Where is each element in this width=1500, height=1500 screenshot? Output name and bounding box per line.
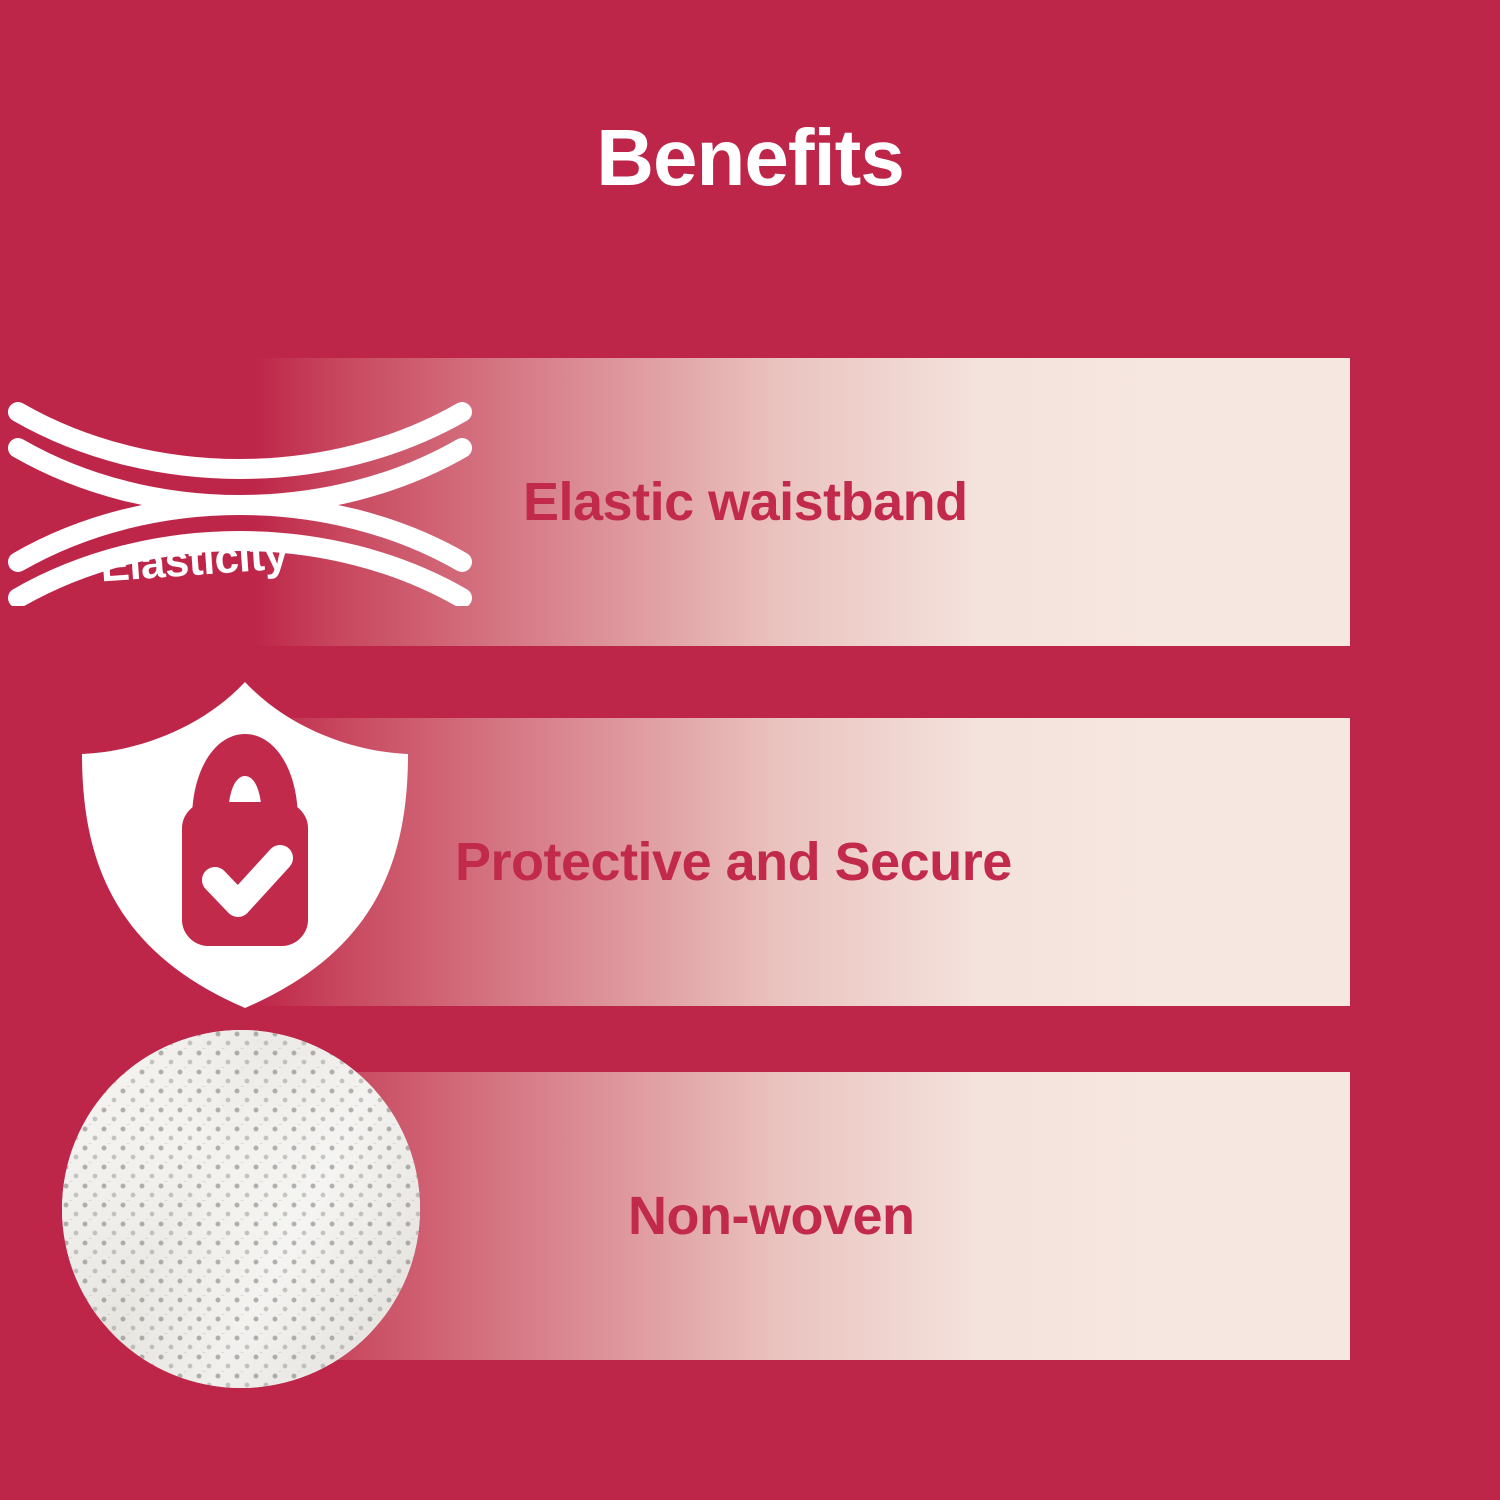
benefit-row-non-woven: Non-woven bbox=[0, 1072, 1500, 1360]
shield-lock-check-icon bbox=[70, 668, 420, 1018]
elasticity-lines-icon: Elasticity bbox=[0, 376, 480, 606]
benefit-label-1: Elastic waistband bbox=[523, 358, 968, 646]
non-woven-fabric-swatch-icon bbox=[62, 1030, 420, 1388]
benefit-row-elastic-waistband: Elastic waistband Elasticity bbox=[0, 358, 1500, 646]
benefits-infographic: Benefits Elastic waistband Elasticity Pr… bbox=[0, 0, 1500, 1500]
benefit-label-3: Non-woven bbox=[628, 1072, 915, 1360]
page-title: Benefits bbox=[0, 118, 1500, 198]
benefit-row-protective-secure: Protective and Secure bbox=[0, 718, 1500, 1006]
fabric-texture bbox=[62, 1030, 420, 1388]
benefit-label-2: Protective and Secure bbox=[455, 718, 1012, 1006]
